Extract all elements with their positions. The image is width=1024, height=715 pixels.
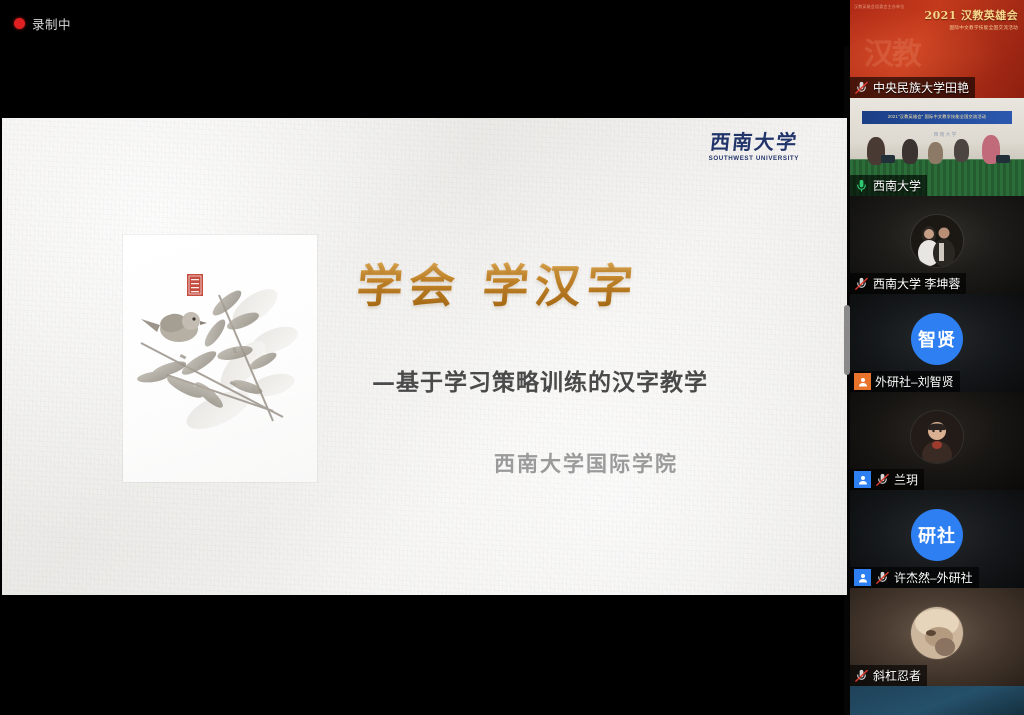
banner-ghost-text: 汉教: [864, 29, 920, 73]
logo-english-text: SOUTHWEST UNIVERSITY: [709, 156, 799, 162]
slide-main-title: 学会 学汉字: [354, 250, 800, 316]
zoom-meeting-window: 西南大学 SOUTHWEST UNIVERSITY: [0, 0, 1024, 715]
avatar: 研社: [911, 509, 963, 561]
recording-label: 录制中: [32, 14, 71, 33]
participant-tile[interactable]: 西南大学 李坤蓉: [850, 196, 1024, 294]
participant-namebar: 西南大学 李坤蓉: [850, 273, 966, 294]
microphone-muted-icon: [875, 472, 890, 487]
avatar: [911, 215, 963, 267]
participant-name: 西南大学: [873, 177, 921, 194]
participant-namebar: 西南大学: [850, 175, 927, 196]
participant-namebar: 外研社–刘智贤: [850, 371, 960, 392]
participant-name: 兰玥: [894, 471, 918, 488]
banner-corner-text: 汉教英雄会组委会主办单位: [854, 4, 904, 10]
participant-namebar: 中央民族大学田艳: [850, 77, 975, 98]
participant-name: 中央民族大学田艳: [873, 79, 969, 96]
microphone-muted-icon: [875, 570, 890, 585]
banner-title: 2021 汉教英雄会: [925, 7, 1018, 23]
participant-tile[interactable]: 智贤 外研社–刘智贤: [850, 294, 1024, 392]
participant-name: 斜杠忍者: [873, 667, 921, 684]
room-wall-logo: 西南大学: [934, 131, 958, 138]
room-person: [902, 139, 918, 164]
person-icon: [854, 471, 871, 488]
avatar: [911, 607, 963, 659]
participant-filmstrip[interactable]: 汉教英雄会组委会主办单位 汉教 2021 汉教英雄会 国际中文教学技能全国交流活…: [850, 0, 1024, 715]
record-dot-icon: [14, 18, 25, 29]
slide-subtitle: —基于学习策略训练的汉字教学: [372, 363, 832, 397]
southwest-university-logo: 西南大学 SOUTHWEST UNIVERSITY: [709, 132, 799, 162]
microphone-muted-icon: [854, 80, 869, 95]
microphone-muted-icon: [854, 276, 869, 291]
room-banner: 2021"汉教英雄会" 国际中文教学技能全国交流活动: [862, 111, 1012, 124]
participant-tile[interactable]: 斜杠忍者: [850, 588, 1024, 686]
shared-screen-stage[interactable]: 西南大学 SOUTHWEST UNIVERSITY: [0, 0, 850, 715]
person-icon: [854, 373, 871, 390]
avatar: [911, 411, 963, 463]
participant-tile[interactable]: [850, 686, 1024, 715]
banner-event-title-group: 2021 汉教英雄会 国际中文教学技能全国交流活动: [925, 7, 1018, 31]
presentation-slide: 西南大学 SOUTHWEST UNIVERSITY: [2, 118, 847, 595]
participant-namebar: 许杰然–外研社: [850, 567, 979, 588]
participant-tile[interactable]: 研社 许杰然–外研社: [850, 490, 1024, 588]
banner-subtitle: 国际中文教学技能全国交流活动: [925, 25, 1018, 31]
room-laptop: [881, 155, 895, 163]
room-person: [928, 142, 943, 164]
person-icon: [854, 569, 871, 586]
participant-tile[interactable]: 2021"汉教英雄会" 国际中文教学技能全国交流活动 西南大学 西南大学: [850, 98, 1024, 196]
microphone-active-icon: [854, 178, 869, 193]
participant-name: 西南大学 李坤蓉: [873, 275, 960, 292]
slide-affiliation: 西南大学国际学院: [494, 448, 834, 478]
participant-name: 许杰然–外研社: [894, 569, 973, 586]
participant-namebar: 斜杠忍者: [850, 665, 927, 686]
recording-indicator[interactable]: 录制中: [0, 0, 850, 46]
room-banner-text: 2021"汉教英雄会" 国际中文教学技能全国交流活动: [888, 114, 986, 120]
room-person: [954, 139, 969, 162]
logo-chinese-text: 西南大学: [708, 132, 800, 152]
filmstrip-scrollbar-thumb[interactable]: [844, 305, 850, 375]
microphone-muted-icon: [854, 668, 869, 683]
participant-namebar: 兰玥: [850, 469, 924, 490]
participant-tile[interactable]: 兰玥: [850, 392, 1024, 490]
participant-name: 外研社–刘智贤: [875, 373, 954, 390]
participant-tile[interactable]: 汉教英雄会组委会主办单位 汉教 2021 汉教英雄会 国际中文教学技能全国交流活…: [850, 0, 1024, 98]
ink-painting-image: [123, 235, 317, 482]
avatar: 智贤: [911, 313, 963, 365]
participant-video: [850, 686, 1024, 715]
room-laptop: [996, 155, 1010, 163]
